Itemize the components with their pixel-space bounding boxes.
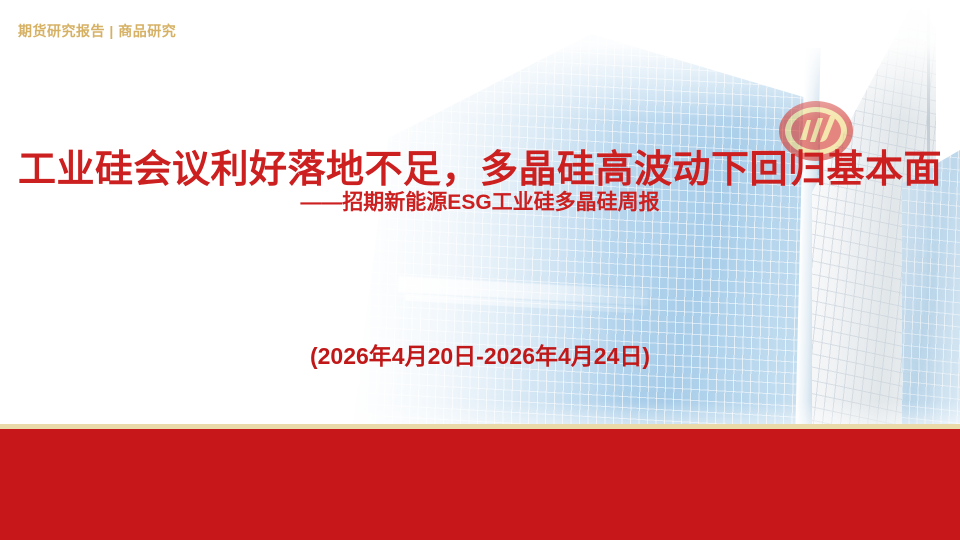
- report-date-range: (2026年4月20日-2026年4月24日): [0, 337, 960, 371]
- footer-band: • 研究员-史恩冰 • shienbing@cmschina.com.cn • …: [0, 429, 960, 540]
- page-subtitle: ——招期新能源ESG工业硅多晶硅周报: [0, 186, 960, 216]
- photo-top-fade: [0, 0, 960, 120]
- report-cover-slide: 期货研究报告 | 商品研究 工业硅会议利好落地不足，多晶硅高波动下回归基本面 —…: [0, 0, 960, 540]
- page-title: 工业硅会议利好落地不足，多晶硅高波动下回归基本面: [0, 138, 960, 193]
- report-category-kicker: 期货研究报告 | 商品研究: [18, 21, 176, 41]
